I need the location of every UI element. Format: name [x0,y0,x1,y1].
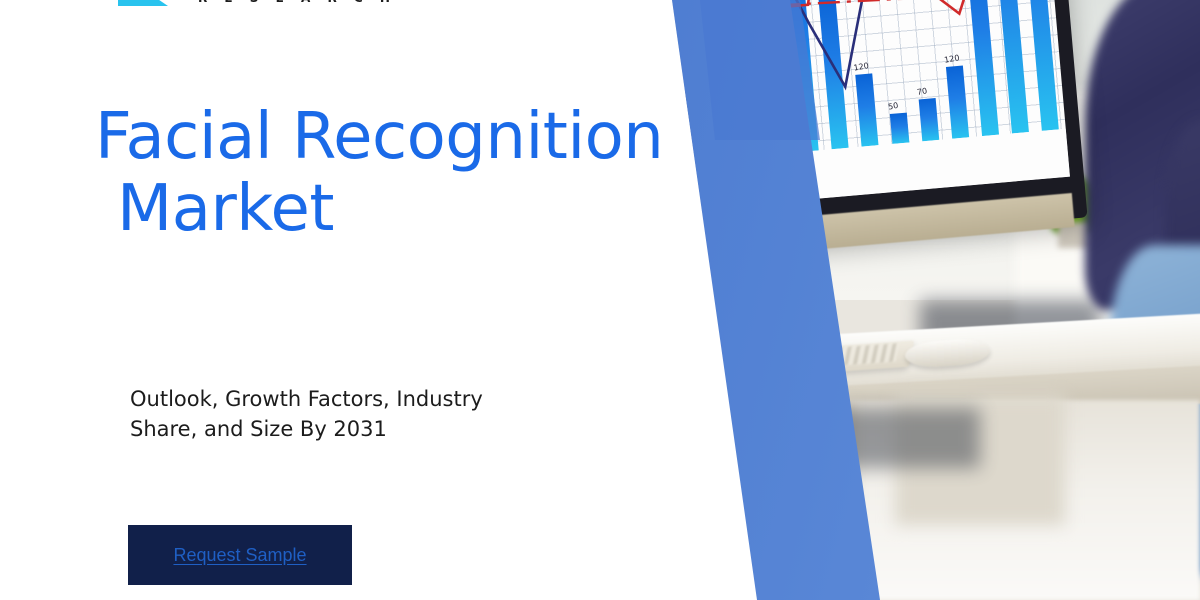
marketing-banner: 440JanFebMar340Apr260May120Jun50Jul70Aug… [0,0,1200,600]
request-sample-button[interactable]: Request Sample [128,525,352,585]
chart-line-red [768,0,1055,29]
request-sample-label: Request Sample [173,545,306,566]
brand-logo[interactable]: R E S E A R C H [118,0,396,6]
chart-line-red-dashed [778,0,1054,19]
page-subtitle-line-2: Share, and Size By 2031 [130,414,630,444]
page-title-line-2: Market [95,173,715,245]
page-subtitle: Outlook, Growth Factors, Industry Share,… [130,384,630,445]
page-title: Facial Recognition Market [95,101,715,246]
triangle-play-mark-icon [118,0,168,6]
page-subtitle-line-1: Outlook, Growth Factors, Industry [130,384,630,414]
page-title-line-1: Facial Recognition [95,100,663,174]
brand-logo-text: R E S E A R C H [198,0,396,6]
